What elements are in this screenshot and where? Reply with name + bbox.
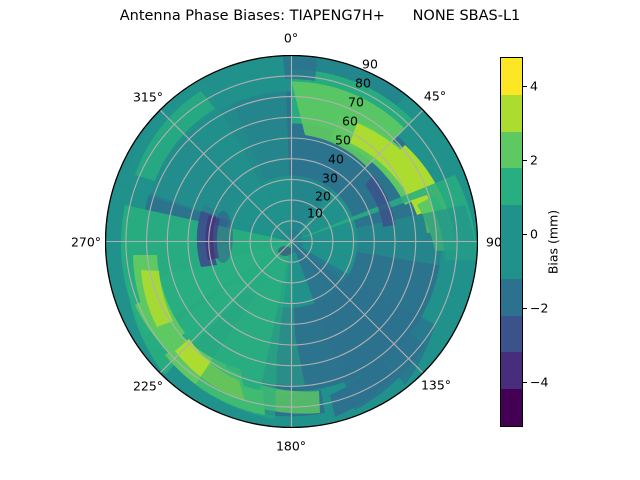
polar-plot-area: [105, 55, 478, 428]
angular-tick-label: 0°: [284, 31, 298, 46]
polar-contour-svg: [105, 55, 478, 428]
colorbar-tick-label: 2: [530, 153, 538, 168]
page-title: Antenna Phase Biases: TIAPENG7H+ NONE SB…: [0, 8, 640, 24]
radial-tick-label: 20: [315, 189, 331, 204]
colorbar-band: [501, 316, 522, 353]
colorbar-tick-label: −2: [530, 301, 548, 316]
colorbar-tick-label: 4: [530, 79, 538, 94]
radial-tick-label: 50: [335, 133, 351, 148]
colorbar-label: Bias (mm): [546, 210, 561, 274]
radial-tick-label: 90: [362, 57, 378, 72]
angular-tick-label: 270°: [71, 235, 101, 250]
angular-tick-label: 225°: [133, 379, 163, 394]
figure-canvas: Antenna Phase Biases: TIAPENG7H+ NONE SB…: [0, 0, 640, 480]
radial-tick-label: 70: [348, 95, 364, 110]
colorbar-tick-mark: [523, 160, 527, 161]
angular-tick-label: 135°: [421, 378, 451, 393]
colorbar-band: [501, 242, 522, 279]
colorbar-band: [501, 132, 522, 169]
radial-tick-label: 40: [328, 152, 344, 167]
colorbar: [500, 57, 523, 427]
radial-tick-label: 10: [307, 206, 323, 221]
angular-tick-label: 45°: [424, 89, 446, 104]
colorbar-band: [501, 205, 522, 242]
colorbar-band: [501, 95, 522, 132]
radial-tick-label: 80: [355, 76, 371, 91]
radial-tick-label: 60: [342, 114, 358, 129]
angular-tick-label: 315°: [133, 90, 163, 105]
colorbar-tick-mark: [523, 234, 527, 235]
colorbar-tick-label: −4: [530, 375, 548, 390]
colorbar-tick-mark: [523, 308, 527, 309]
colorbar-band: [501, 352, 522, 389]
angular-tick-label: 180°: [276, 439, 306, 454]
colorbar-band: [501, 389, 522, 426]
colorbar-tick-label: 0: [530, 227, 538, 242]
radial-tick-label: 30: [322, 171, 338, 186]
colorbar-band: [501, 279, 522, 316]
colorbar-band: [501, 58, 522, 95]
colorbar-gradient: [500, 57, 523, 427]
colorbar-tick-mark: [523, 86, 527, 87]
colorbar-tick-mark: [523, 382, 527, 383]
colorbar-band: [501, 168, 522, 205]
polar-grid: [106, 56, 478, 428]
